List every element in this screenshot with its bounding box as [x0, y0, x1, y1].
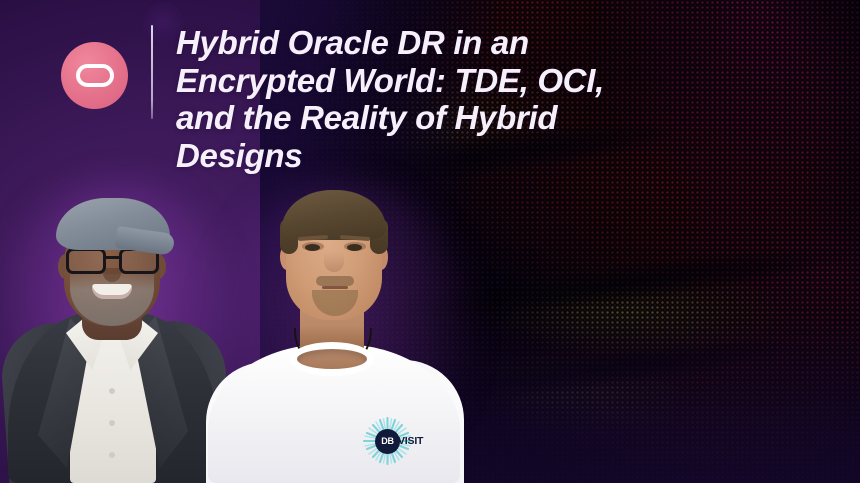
speaker-left-shirt-button [109, 420, 115, 426]
title-line-3: and the Reality of Hybrid [176, 99, 706, 137]
speaker-right-eye-right [347, 244, 362, 251]
glasses-lens-left [66, 248, 106, 274]
oracle-logo-mark [76, 64, 114, 87]
title-card: Hybrid Oracle DR in an Encrypted World: … [0, 0, 860, 483]
oracle-logo-icon [61, 42, 128, 109]
speaker-left-smile [92, 284, 132, 299]
speaker-right-portrait: DB VISIT [212, 176, 456, 483]
speaker-right-moustache [316, 276, 354, 286]
title-line-4: Designs [176, 137, 706, 175]
speaker-right-tshirt-collar [290, 342, 374, 376]
vertical-divider-icon [151, 25, 153, 119]
speaker-left-shirt-button [109, 388, 115, 394]
dbvisit-visit-text: VISIT [398, 436, 423, 447]
speaker-left-shirt-button [109, 452, 115, 458]
glasses-bridge [106, 256, 119, 259]
speaker-right-hair [282, 190, 386, 240]
page-title: Hybrid Oracle DR in an Encrypted World: … [176, 24, 706, 174]
speaker-right-mouth [322, 286, 348, 289]
dbvisit-logo-core: DB [375, 429, 400, 454]
speaker-right-eye-left [305, 244, 320, 251]
title-line-1: Hybrid Oracle DR in an [176, 24, 706, 62]
speaker-left-portrait [8, 192, 218, 483]
dbvisit-logo-icon: DB VISIT [359, 416, 415, 466]
title-line-2: Encrypted World: TDE, OCI, [176, 62, 706, 100]
dbvisit-db-text: DB [381, 437, 393, 446]
speaker-right-nose [324, 252, 344, 272]
